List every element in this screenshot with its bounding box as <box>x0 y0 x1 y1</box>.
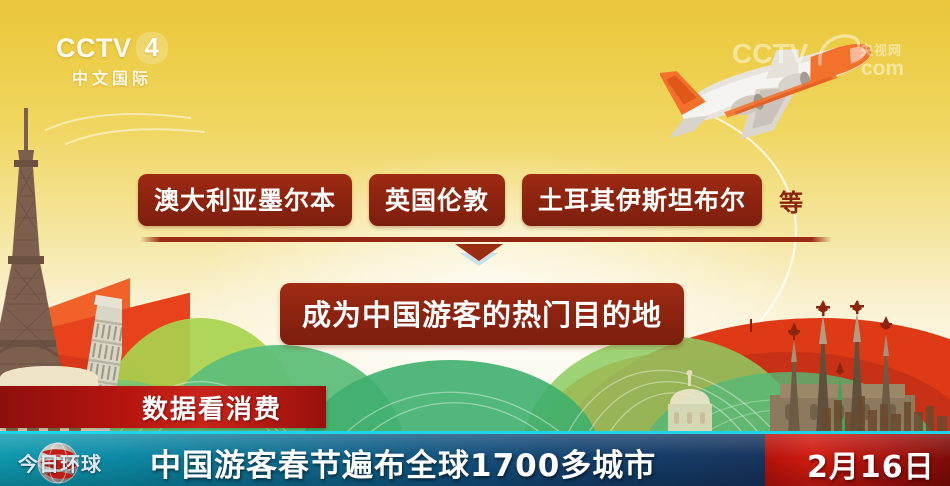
city-chip-melbourne[interactable]: 澳大利亚墨尔本 <box>138 174 352 226</box>
conclusion-banner: 成为中国游客的热门目的地 <box>280 283 684 345</box>
etc-label: 等 <box>779 183 803 218</box>
series-badge-label: 数据看消费 <box>142 389 282 426</box>
city-chip-istanbul[interactable]: 土耳其伊斯坦布尔 <box>522 174 762 226</box>
broadcast-frame: CCTV 4 中文国际 CCTV 央视网 com 澳大利亚墨尔本 英国伦敦 土耳… <box>0 0 950 486</box>
channel-logo-row: CCTV 4 <box>44 32 180 64</box>
date-label: 2月16日 <box>807 442 935 486</box>
series-badge: 数据看消费 <box>0 386 326 428</box>
channel-logo-text: CCTV <box>56 33 132 64</box>
destination-city-row: 澳大利亚墨尔本 英国伦敦 土耳其伊斯坦布尔 等 <box>138 174 803 226</box>
dome-building-icon <box>660 368 720 433</box>
arrow-down-icon <box>455 244 503 261</box>
watermark-com-label: com <box>861 57 904 81</box>
watermark-swoosh-icon <box>816 34 860 68</box>
channel-logo-number: 4 <box>136 32 168 64</box>
city-chip-london[interactable]: 英国伦敦 <box>369 174 505 226</box>
channel-logo: CCTV 4 中文国际 <box>44 32 180 86</box>
cctv-com-watermark: CCTV 央视网 com <box>732 40 902 82</box>
divider-line <box>140 237 832 242</box>
news-ticker-bar: 今日环球 中国游客春节遍布全球1700多城市 2月16日 <box>0 431 950 486</box>
channel-logo-subtitle: 中文国际 <box>44 65 180 89</box>
program-name-label: 今日环球 <box>18 448 102 477</box>
news-headline: 中国游客春节遍布全球1700多城市 <box>150 440 656 485</box>
date-panel: 2月16日 <box>765 434 950 486</box>
